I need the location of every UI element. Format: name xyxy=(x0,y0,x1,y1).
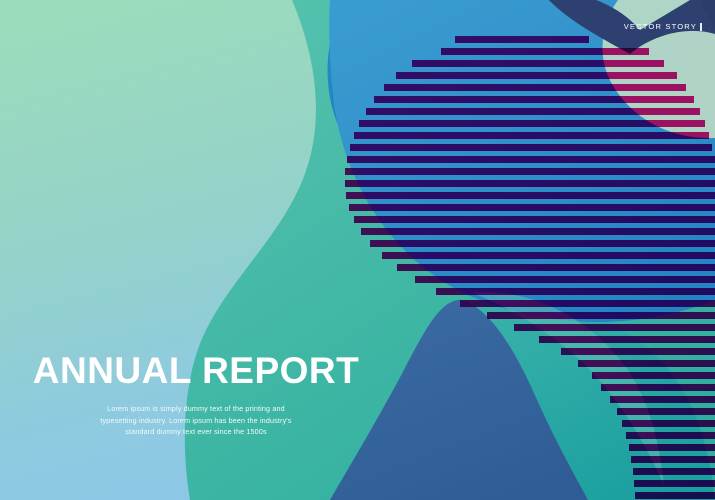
headline-block: ANNUAL REPORT Lorem ipsum is simply dumm… xyxy=(0,352,392,438)
brand-logo[interactable]: VECTOR STORY xyxy=(624,22,702,31)
page-title: ANNUAL REPORT xyxy=(0,352,392,391)
brand-name: VECTOR STORY xyxy=(624,22,697,31)
annual-report-poster: VECTOR STORY ANNUAL REPORT Lorem ipsum i… xyxy=(0,0,715,500)
page-subtitle: Lorem ipsum is simply dummy text of the … xyxy=(90,403,302,438)
brand-mark-icon xyxy=(700,23,702,31)
